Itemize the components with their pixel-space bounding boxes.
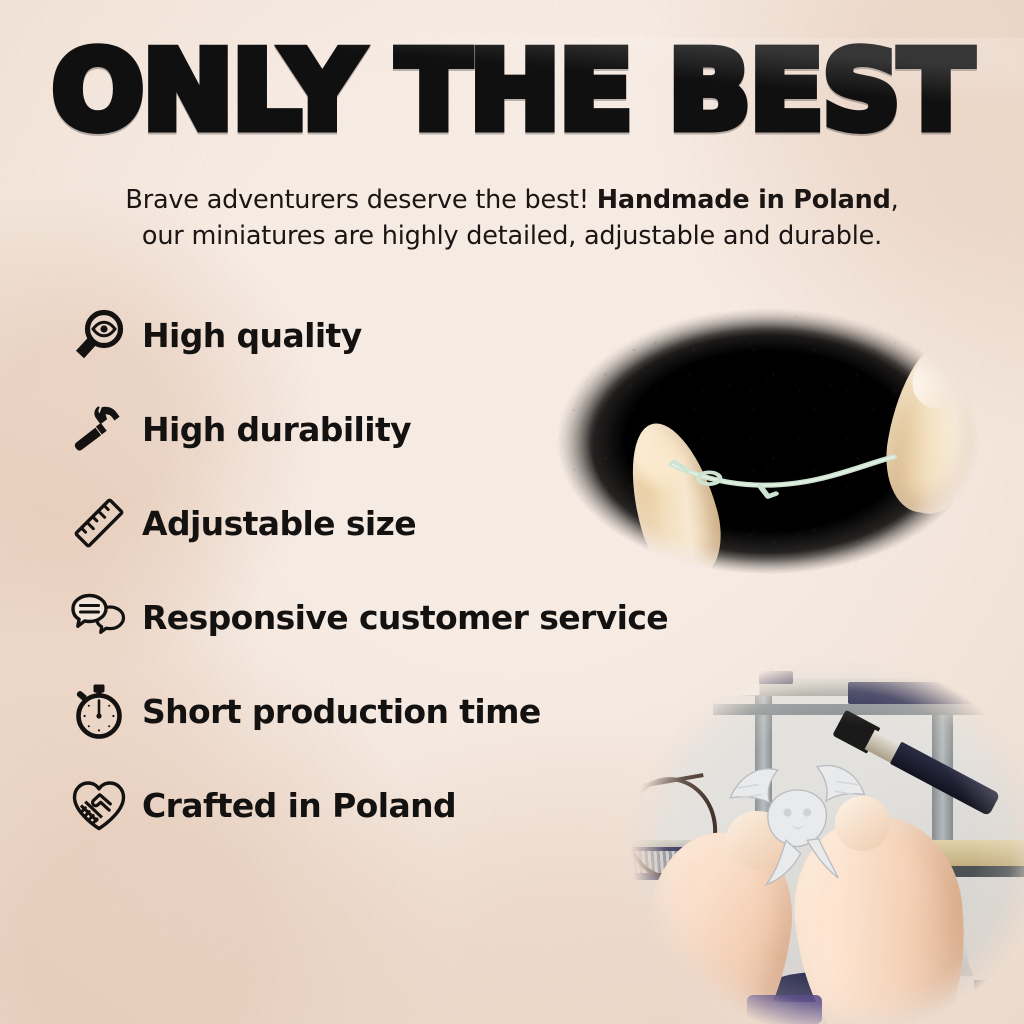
shelf-label-card <box>708 662 760 697</box>
promo-poster: ONLY THE BEST Brave adventurers deserve … <box>0 0 1024 1024</box>
flexible-miniature-photo <box>512 276 1024 606</box>
subtitle-line-1: Brave adventurers deserve the best! Hand… <box>125 185 898 215</box>
flexible-miniature-part <box>666 454 902 498</box>
feature-label: Crafted in Poland <box>136 786 456 825</box>
dragon-miniature <box>705 752 890 899</box>
subtitle-highlight: Handmade in Poland <box>597 185 891 215</box>
subtitle-line-2: our miniatures are highly detailed, adju… <box>142 221 882 251</box>
footer-space <box>0 964 1024 1024</box>
feature-label: High durability <box>136 410 411 449</box>
ruler-icon <box>62 492 136 554</box>
page-title: ONLY THE BEST <box>0 38 1024 146</box>
tray-top-right <box>848 682 999 704</box>
heart-handshake-icon <box>62 774 136 836</box>
hammer-icon <box>62 398 136 460</box>
subtitle: Brave adventurers deserve the best! Hand… <box>0 182 1024 254</box>
stopwatch-icon <box>62 680 136 742</box>
feature-label: Adjustable size <box>136 504 416 543</box>
speech-bubbles-icon <box>62 586 136 648</box>
magnifier-eye-icon <box>62 304 136 366</box>
feature-label: High quality <box>136 316 362 355</box>
shelf-board-top-edge <box>713 704 1024 715</box>
feature-label: Short production time <box>136 692 541 731</box>
